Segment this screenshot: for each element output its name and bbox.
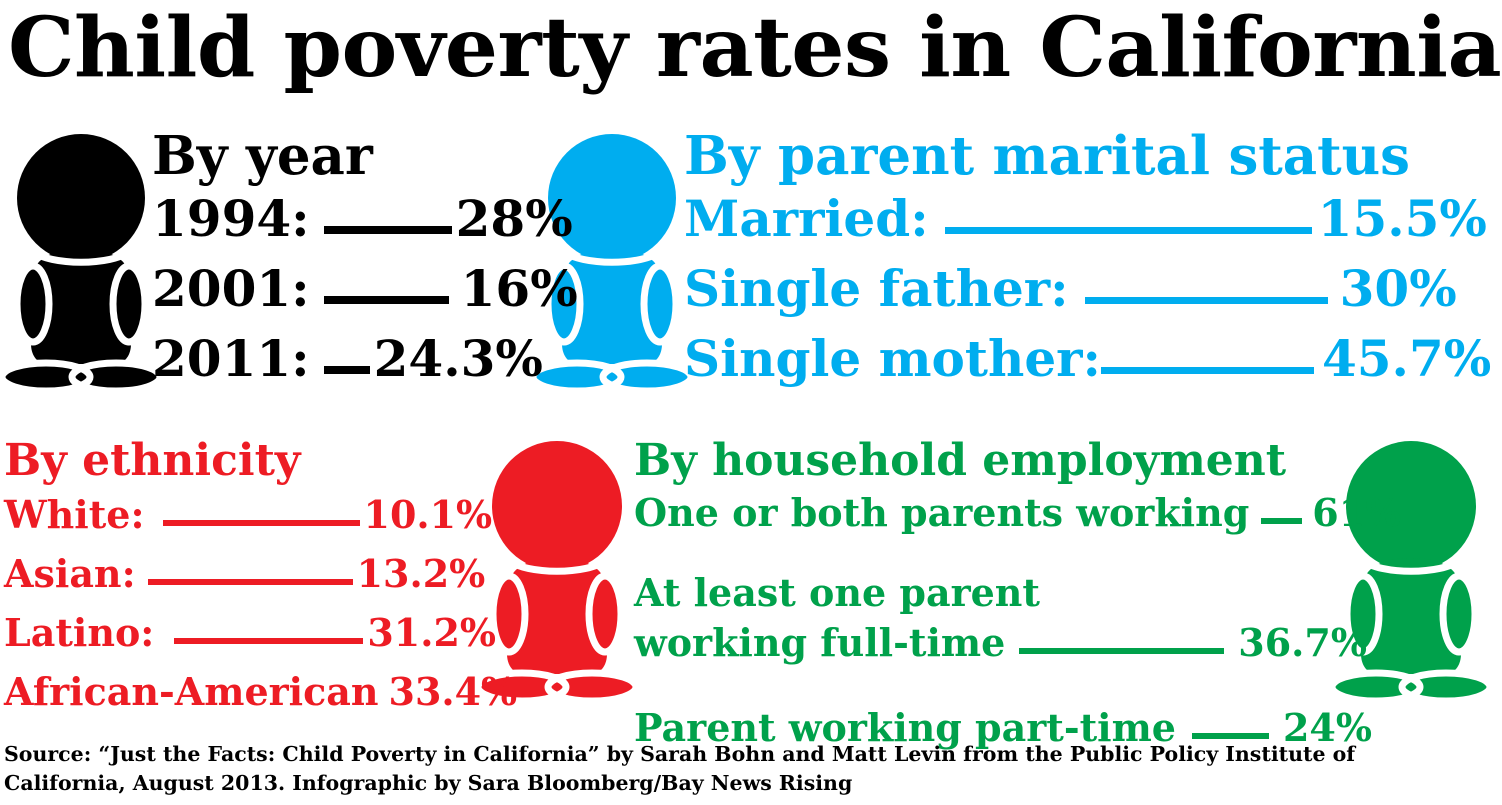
stat-label: working full-time xyxy=(634,618,1005,668)
leader-line xyxy=(148,579,353,585)
stat-row-line1: At least one parent xyxy=(634,568,1401,618)
stat-value: 36.7% xyxy=(1238,618,1367,668)
stat-label: Latino: xyxy=(4,603,154,662)
stat-row: 1994: 28% xyxy=(152,184,578,254)
leader-line xyxy=(324,366,370,374)
page-title: Child poverty rates in California xyxy=(8,2,1502,94)
stat-value: 10.1% xyxy=(364,485,493,544)
spacer xyxy=(634,540,1401,568)
section-by-year: By year 1994: 28% 2001: 16% 2011: 24.3% xyxy=(152,128,578,394)
stat-row: 2001: 16% xyxy=(152,254,578,324)
person-figure-icon-black xyxy=(2,126,160,394)
stat-row: 2011: 24.3% xyxy=(152,324,578,394)
stat-label-line1: At least one parent xyxy=(634,568,1040,618)
section-by-parent-marital-status: By parent marital status Married: 15.5% … xyxy=(684,128,1491,394)
stat-row: Single father: 30% xyxy=(684,254,1491,324)
stat-value: 24.3% xyxy=(374,324,543,394)
stat-label: 2001: xyxy=(152,254,310,324)
leader-line xyxy=(1192,733,1269,739)
stat-label: One or both parents working xyxy=(634,485,1249,540)
stat-value: 13.2% xyxy=(357,544,486,603)
stat-label: 2011: xyxy=(152,324,310,394)
stat-row: Asian: 13.2% xyxy=(4,544,517,603)
stat-row: Single mother: 45.7% xyxy=(684,324,1491,394)
leader-line xyxy=(163,520,360,526)
stat-value: 33.4% xyxy=(389,662,518,721)
section-by-ethnicity: By ethnicity White: 10.1% Asian: 13.2% L… xyxy=(4,437,517,721)
leader-line xyxy=(324,226,452,234)
leader-line xyxy=(1019,648,1224,654)
stat-value: 31.2% xyxy=(367,603,496,662)
section-heading-by-parent-marital-status: By parent marital status xyxy=(684,128,1491,184)
stat-row: White: 10.1% xyxy=(4,485,517,544)
leader-line xyxy=(1261,518,1302,524)
stat-value: 28% xyxy=(456,184,573,254)
section-heading-by-year: By year xyxy=(152,128,578,184)
stat-row: Married: 15.5% xyxy=(684,184,1491,254)
stat-label: African-American xyxy=(4,662,379,721)
leader-line xyxy=(174,638,363,644)
stat-value: 16% xyxy=(461,254,578,324)
leader-line xyxy=(324,296,449,304)
stat-value: 15.5% xyxy=(1318,184,1487,254)
stat-label: White: xyxy=(4,485,145,544)
leader-line xyxy=(1101,367,1314,374)
stat-value: 30% xyxy=(1340,254,1457,324)
stat-label: Single father: xyxy=(684,254,1069,324)
section-heading-by-household-employment: By household employment xyxy=(634,437,1401,485)
section-heading-by-ethnicity: By ethnicity xyxy=(4,437,517,485)
stat-label: Asian: xyxy=(4,544,136,603)
source-note: Source: “Just the Facts: Child Poverty i… xyxy=(4,740,1424,798)
stat-row: African-American 33.4% xyxy=(4,662,517,721)
spacer xyxy=(634,668,1401,700)
stat-label: 1994: xyxy=(152,184,310,254)
stat-row: working full-time 36.7% xyxy=(634,618,1401,668)
leader-line xyxy=(1085,297,1328,304)
stat-label: Single mother: xyxy=(684,324,1101,394)
leader-line xyxy=(945,227,1312,234)
section-by-household-employment: By household employment One or both pare… xyxy=(634,437,1401,755)
stat-value: 61% xyxy=(1312,485,1401,540)
stat-value: 45.7% xyxy=(1322,324,1491,394)
stat-row: One or both parents working 61% xyxy=(634,485,1401,540)
stat-row: Latino: 31.2% xyxy=(4,603,517,662)
stat-label: Married: xyxy=(684,184,929,254)
